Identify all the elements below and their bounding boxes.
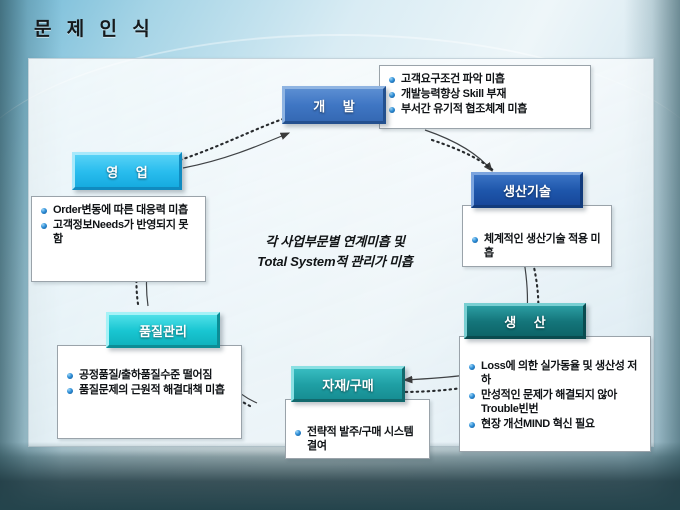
node-label-quality: 품질관리	[139, 321, 187, 340]
slide-canvas: 문 제 인 식 개 발	[0, 0, 680, 510]
node-header-material-purchase[interactable]: 자재/구매	[291, 366, 405, 402]
list-item: 현장 개선MIND 혁신 필요	[468, 417, 643, 431]
list-item: 만성적인 문제가 해결되지 않아 Trouble빈번	[468, 388, 643, 416]
bullet-box-development: 고객요구조건 파악 미흡 개발능력향상 Skill 부재 부서간 유기적 협조체…	[379, 65, 591, 129]
list-item: 품질문제의 근원적 해결대책 미흡	[66, 383, 234, 397]
bullet-box-production: Loss에 의한 실가동율 및 생산성 저하 만성적인 문제가 해결되지 않아 …	[459, 336, 651, 452]
bullet-list-quality: 공정품질/출하품질수준 떨어짐 품질문제의 근원적 해결대책 미흡	[66, 368, 234, 397]
bullet-box-quality: 공정품질/출하품질수준 떨어짐 품질문제의 근원적 해결대책 미흡	[57, 345, 242, 439]
node-header-development[interactable]: 개 발	[282, 86, 386, 124]
list-item: 전략적 발주/구매 시스템 결여	[294, 425, 422, 453]
bullet-box-material-purchase: 전략적 발주/구매 시스템 결여	[285, 399, 430, 459]
bullet-box-production-tech: 체계적인 생산기술 적용 미흡	[462, 205, 612, 267]
center-note-line-2: Total System적 관리가 미흡	[222, 252, 448, 272]
node-label-development: 개 발	[306, 96, 362, 115]
bullet-list-production: Loss에 의한 실가동율 및 생산성 저하 만성적인 문제가 해결되지 않아 …	[468, 359, 643, 431]
node-label-material-purchase: 자재/구매	[322, 375, 373, 394]
bullet-box-sales: Order변동에 따른 대응력 미흡 고객정보Needs가 반영되지 못함	[31, 196, 206, 282]
list-item: 고객요구조건 파악 미흡	[388, 72, 583, 86]
bullet-list-development: 고객요구조건 파악 미흡 개발능력향상 Skill 부재 부서간 유기적 협조체…	[388, 72, 583, 116]
center-summary-note: 각 사업부문별 연계미흡 및 Total System적 관리가 미흡	[222, 232, 448, 272]
list-item: Loss에 의한 실가동율 및 생산성 저하	[468, 359, 643, 387]
node-header-production-tech[interactable]: 생산기술	[471, 172, 583, 208]
node-label-sales: 영 업	[99, 162, 155, 181]
node-header-sales[interactable]: 영 업	[72, 152, 182, 190]
list-item: 고객정보Needs가 반영되지 못함	[40, 218, 198, 246]
bullet-list-sales: Order변동에 따른 대응력 미흡 고객정보Needs가 반영되지 못함	[40, 203, 198, 246]
node-header-quality[interactable]: 품질관리	[106, 312, 220, 348]
list-item: 공정품질/출하품질수준 떨어짐	[66, 368, 234, 382]
node-label-production: 생 산	[497, 312, 553, 331]
node-label-production-tech: 생산기술	[503, 181, 551, 200]
list-item: 체계적인 생산기술 적용 미흡	[471, 232, 604, 260]
list-item: 개발능력향상 Skill 부재	[388, 87, 583, 101]
bullet-list-production-tech: 체계적인 생산기술 적용 미흡	[471, 232, 604, 260]
list-item: 부서간 유기적 협조체계 미흡	[388, 102, 583, 116]
bullet-list-material-purchase: 전략적 발주/구매 시스템 결여	[294, 425, 422, 453]
center-note-line-1: 각 사업부문별 연계미흡 및	[222, 232, 448, 252]
node-header-production[interactable]: 생 산	[464, 303, 586, 339]
list-item: Order변동에 따른 대응력 미흡	[40, 203, 198, 217]
page-title: 문 제 인 식	[34, 14, 155, 41]
